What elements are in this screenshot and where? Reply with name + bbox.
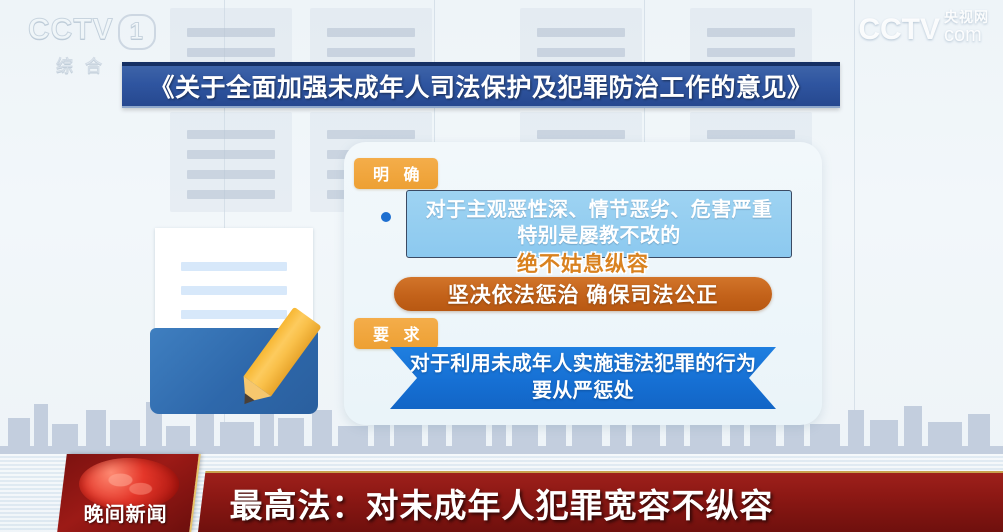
bg-doc-card bbox=[170, 112, 292, 212]
highlight-line-2: 特别是屡教不改的 bbox=[415, 223, 783, 249]
broadcast-screen: CCTV1 综合 CCTV 央视网 com 《关于全面加强未成年人司法保护及犯罪… bbox=[0, 0, 1003, 532]
requirement-ribbon: 对于利用未成年人实施违法犯罪的行为 要从严惩处 bbox=[390, 347, 776, 409]
watermark-cn-name: 央视网 bbox=[944, 10, 989, 24]
program-logo-badge: 晚间新闻 bbox=[57, 454, 199, 532]
emphasis-note-text: 绝不姑息纵容 bbox=[344, 248, 822, 278]
headline-text: 最高法：对未成年人犯罪宽容不纵容 bbox=[230, 479, 774, 527]
bullet-point-icon bbox=[381, 212, 391, 222]
program-name-text: 晚间新闻 bbox=[60, 498, 192, 527]
section-tag-yaoqiu: 要 求 bbox=[354, 318, 438, 349]
cctv-com-watermark: CCTV 央视网 com bbox=[858, 10, 989, 45]
cctv-wordmark: CCTV bbox=[28, 13, 114, 46]
bottom-news-bar: 晚间新闻 最高法：对未成年人犯罪宽容不纵容 bbox=[0, 454, 1003, 532]
headline-banner: 最高法：对未成年人犯罪宽容不纵容 bbox=[198, 471, 1003, 532]
highlight-line-1: 对于主观恶性深、情节恶劣、危害严重 bbox=[415, 197, 783, 223]
channel-number: 1 bbox=[118, 14, 156, 50]
watermark-brand: CCTV bbox=[858, 15, 940, 45]
document-illustration bbox=[150, 228, 365, 428]
conclusion-pill: 坚决依法惩治 确保司法公正 bbox=[394, 277, 772, 311]
requirement-line-2: 要从严惩处 bbox=[532, 378, 634, 405]
content-panel: 明 确 对于主观恶性深、情节恶劣、危害严重 特别是屡教不改的 绝不姑息纵容 坚决… bbox=[344, 142, 822, 425]
section-tag-mingque: 明 确 bbox=[354, 158, 438, 189]
conclusion-pill-text: 坚决依法惩治 确保司法公正 bbox=[448, 279, 719, 309]
document-title-banner: 《关于全面加强未成年人司法保护及犯罪防治工作的意见》 bbox=[122, 62, 840, 108]
requirement-line-1: 对于利用未成年人实施违法犯罪的行为 bbox=[410, 351, 757, 378]
watermark-domain: com bbox=[944, 25, 989, 45]
document-title-text: 《关于全面加强未成年人司法保护及犯罪防治工作的意见》 bbox=[149, 68, 812, 104]
